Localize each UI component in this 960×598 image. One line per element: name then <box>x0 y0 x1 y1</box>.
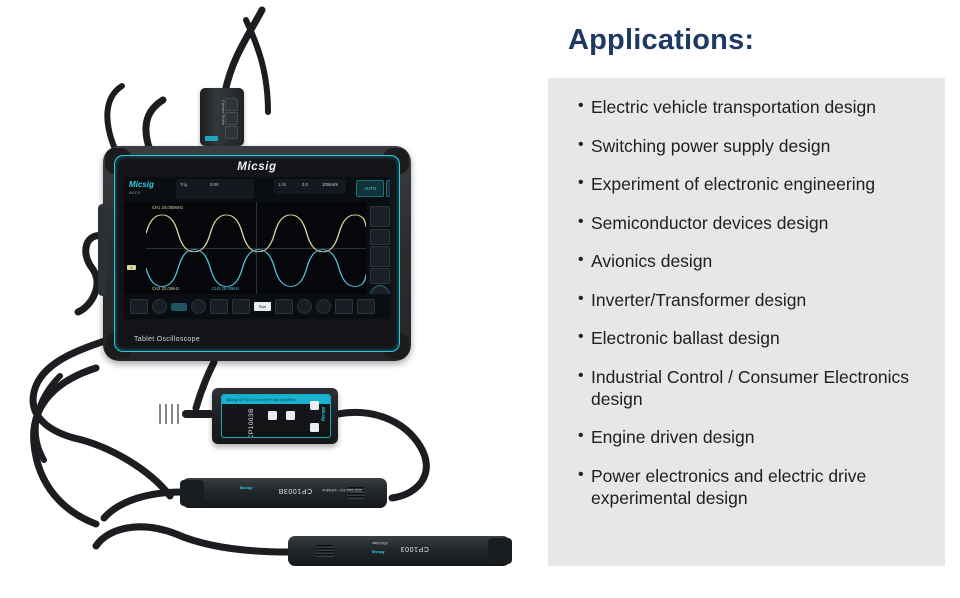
screen-button-auto[interactable]: AUTO <box>356 180 384 197</box>
probe-lower-vent <box>316 545 334 557</box>
probe-upper-brand-label: Micsig <box>240 486 252 491</box>
module-key-1 <box>225 98 238 111</box>
trigger-value: 0.0V <box>210 182 219 187</box>
toolbar-button-1[interactable] <box>130 299 148 314</box>
toolbar-knob-left[interactable] <box>152 299 167 314</box>
list-item: Inverter/Transformer design <box>578 289 933 311</box>
probe-upper-jaw-icon <box>180 480 204 506</box>
toolbar-button-5[interactable] <box>335 299 353 314</box>
amplifier-face-plate: Micsig CP1003 Current Probe Amplifier CP… <box>221 394 331 438</box>
list-item: Semiconductor devices design <box>578 212 933 234</box>
probe-lower-model-label: CP1003 <box>400 545 429 552</box>
screen-button-channels[interactable]: CH1 CH2 <box>386 180 390 197</box>
toolbar-button-6[interactable] <box>357 299 375 314</box>
right-button-2[interactable] <box>370 229 390 245</box>
screen-top-bar: Micsig AUTO Trig 0.0V 1.0k 2.0 100ms/s A… <box>124 177 390 202</box>
trigger-readout[interactable]: Trig 0.0V <box>176 179 254 199</box>
list-item: Avionics design <box>578 250 933 272</box>
waveform-plot-area[interactable]: CH1 20.000MHz CH2 20.00kHz CH3 20.00kHz <box>146 202 366 294</box>
waveform-traces <box>146 202 366 294</box>
list-item: Engine driven design <box>578 426 933 448</box>
toolbar-run-button[interactable]: Run <box>254 302 271 311</box>
list-item: Experiment of electronic engineering <box>578 173 933 195</box>
usb-trigger-module: Current Probe <box>200 88 244 146</box>
list-item: Electronic ballast design <box>578 327 933 349</box>
toolbar-knob-right[interactable] <box>191 299 206 314</box>
amplifier-switch-right[interactable] <box>286 411 295 420</box>
toolbar-button-3[interactable] <box>232 299 250 314</box>
product-photo: Current Probe Micsig Micsig AUTO <box>0 0 548 598</box>
module-key-2 <box>225 112 238 125</box>
clamp-probe-upper: CP1003B Micsig 50A Max DC~100MHz <box>182 478 387 508</box>
device-brand-bar: Micsig <box>115 158 399 175</box>
screen-bottom-toolbar: Run <box>124 294 390 319</box>
page-title: Applications: <box>568 24 754 57</box>
amplifier-switch-center[interactable] <box>268 411 277 420</box>
timebase-value: 2.0 <box>302 182 308 187</box>
channel1-marker[interactable]: 1 <box>127 265 136 270</box>
probe-lower-brand-label: Micsig <box>372 550 384 555</box>
clamp-probe-lower: CP1003 Micsig 50A Max <box>288 536 510 566</box>
module-key-3 <box>225 126 238 139</box>
list-item: Switching power supply design <box>578 135 933 157</box>
device-brand-label: Micsig <box>237 161 276 173</box>
side-grip <box>98 204 107 296</box>
current-probe-amplifier: Micsig CP1003 Current Probe Amplifier CP… <box>212 388 338 444</box>
amplifier-model-label: CP1003B <box>248 408 255 438</box>
screen-logo: Micsig <box>129 180 154 189</box>
list-item: Industrial Control / Consumer Electronic… <box>578 366 933 410</box>
probe-upper-spec-label: 50A Max DC~100MHz <box>322 488 362 493</box>
probe-lower-jaw-icon <box>488 538 512 564</box>
amplifier-switch-bottom[interactable] <box>310 423 319 432</box>
usb-module-label: Current Probe <box>221 100 226 125</box>
timebase-readout[interactable]: 1.0k 2.0 100ms/s <box>274 179 346 194</box>
toolbar-active-pill[interactable] <box>171 303 187 311</box>
toolbar-button-2[interactable] <box>210 299 228 314</box>
list-item: Electric vehicle transportation design <box>578 96 933 118</box>
timebase-label: 1.0k <box>278 182 286 187</box>
slide-root: Current Probe Micsig Micsig AUTO <box>0 0 960 598</box>
amplifier-switch-top[interactable] <box>310 401 319 410</box>
right-button-1[interactable] <box>370 206 390 227</box>
probe-upper-model-label: CP1003B <box>278 487 312 494</box>
tablet-oscilloscope: Micsig Micsig AUTO Trig 0.0V 1.0k 2.0 <box>103 146 411 361</box>
list-item: Power electronics and electric drive exp… <box>578 465 933 509</box>
sample-rate-value: 100ms/s <box>322 182 338 187</box>
oscilloscope-screen: Micsig AUTO Trig 0.0V 1.0k 2.0 100ms/s A… <box>124 177 390 319</box>
applications-list: Electric vehicle transportation design S… <box>578 96 933 525</box>
toolbar-button-4[interactable] <box>275 299 293 314</box>
screen-right-controls <box>367 202 390 294</box>
screen-logo-sub: AUTO <box>129 190 140 195</box>
tablet-footer-label: Tablet Oscilloscope <box>134 336 200 343</box>
display-bezel: Micsig Micsig AUTO Trig 0.0V 1.0k 2.0 <box>114 155 400 352</box>
toolbar-knob-3[interactable] <box>297 299 312 314</box>
toolbar-knob-4[interactable] <box>316 299 331 314</box>
trigger-label: Trig <box>180 182 187 187</box>
right-button-4[interactable] <box>370 268 390 284</box>
amplifier-brand-label: Micsig <box>321 407 326 421</box>
module-brand-tag <box>205 136 218 141</box>
probe-lower-spec-label: 50A Max <box>372 541 388 546</box>
right-button-3[interactable] <box>370 246 390 267</box>
